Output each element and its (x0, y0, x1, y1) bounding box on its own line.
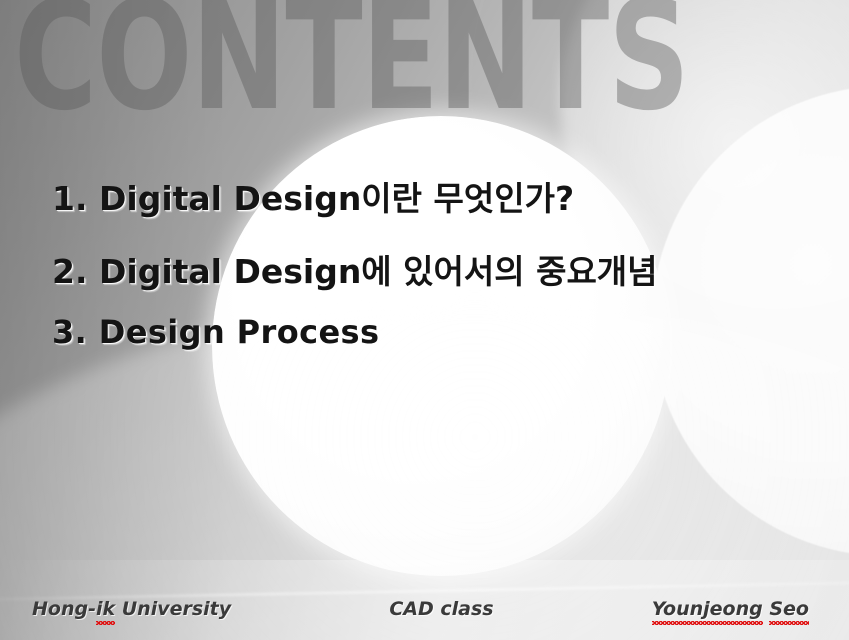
slide-footer: Hong-ik University CAD class Younjeong S… (0, 598, 849, 640)
footer-university-suffix: University (115, 598, 231, 620)
footer-university-prefix: Hong- (32, 598, 96, 620)
footer-class: CAD class (389, 598, 493, 620)
footer-university: Hong-ik University (32, 598, 231, 620)
footer-author-firstname: Younjeong (652, 598, 763, 620)
slide-title-watermark: CONTENTS (14, 0, 689, 131)
footer-author: Younjeong Seo (652, 598, 809, 620)
contents-item-3: 3. Design Process (52, 316, 812, 348)
footer-author-lastname: Seo (769, 598, 809, 620)
footer-university-misspelled: ik (96, 598, 115, 620)
contents-item-2: 2. Digital Design에 있어서의 중요개념 (52, 255, 812, 288)
contents-item-1: 1. Digital Design이란 무엇인가? (52, 182, 812, 215)
presentation-slide: CONTENTS 1. Digital Design이란 무엇인가? 2. Di… (0, 0, 849, 640)
sweep-arc-shape (0, 300, 849, 640)
contents-list: 1. Digital Design이란 무엇인가? 2. Digital Des… (52, 182, 812, 348)
